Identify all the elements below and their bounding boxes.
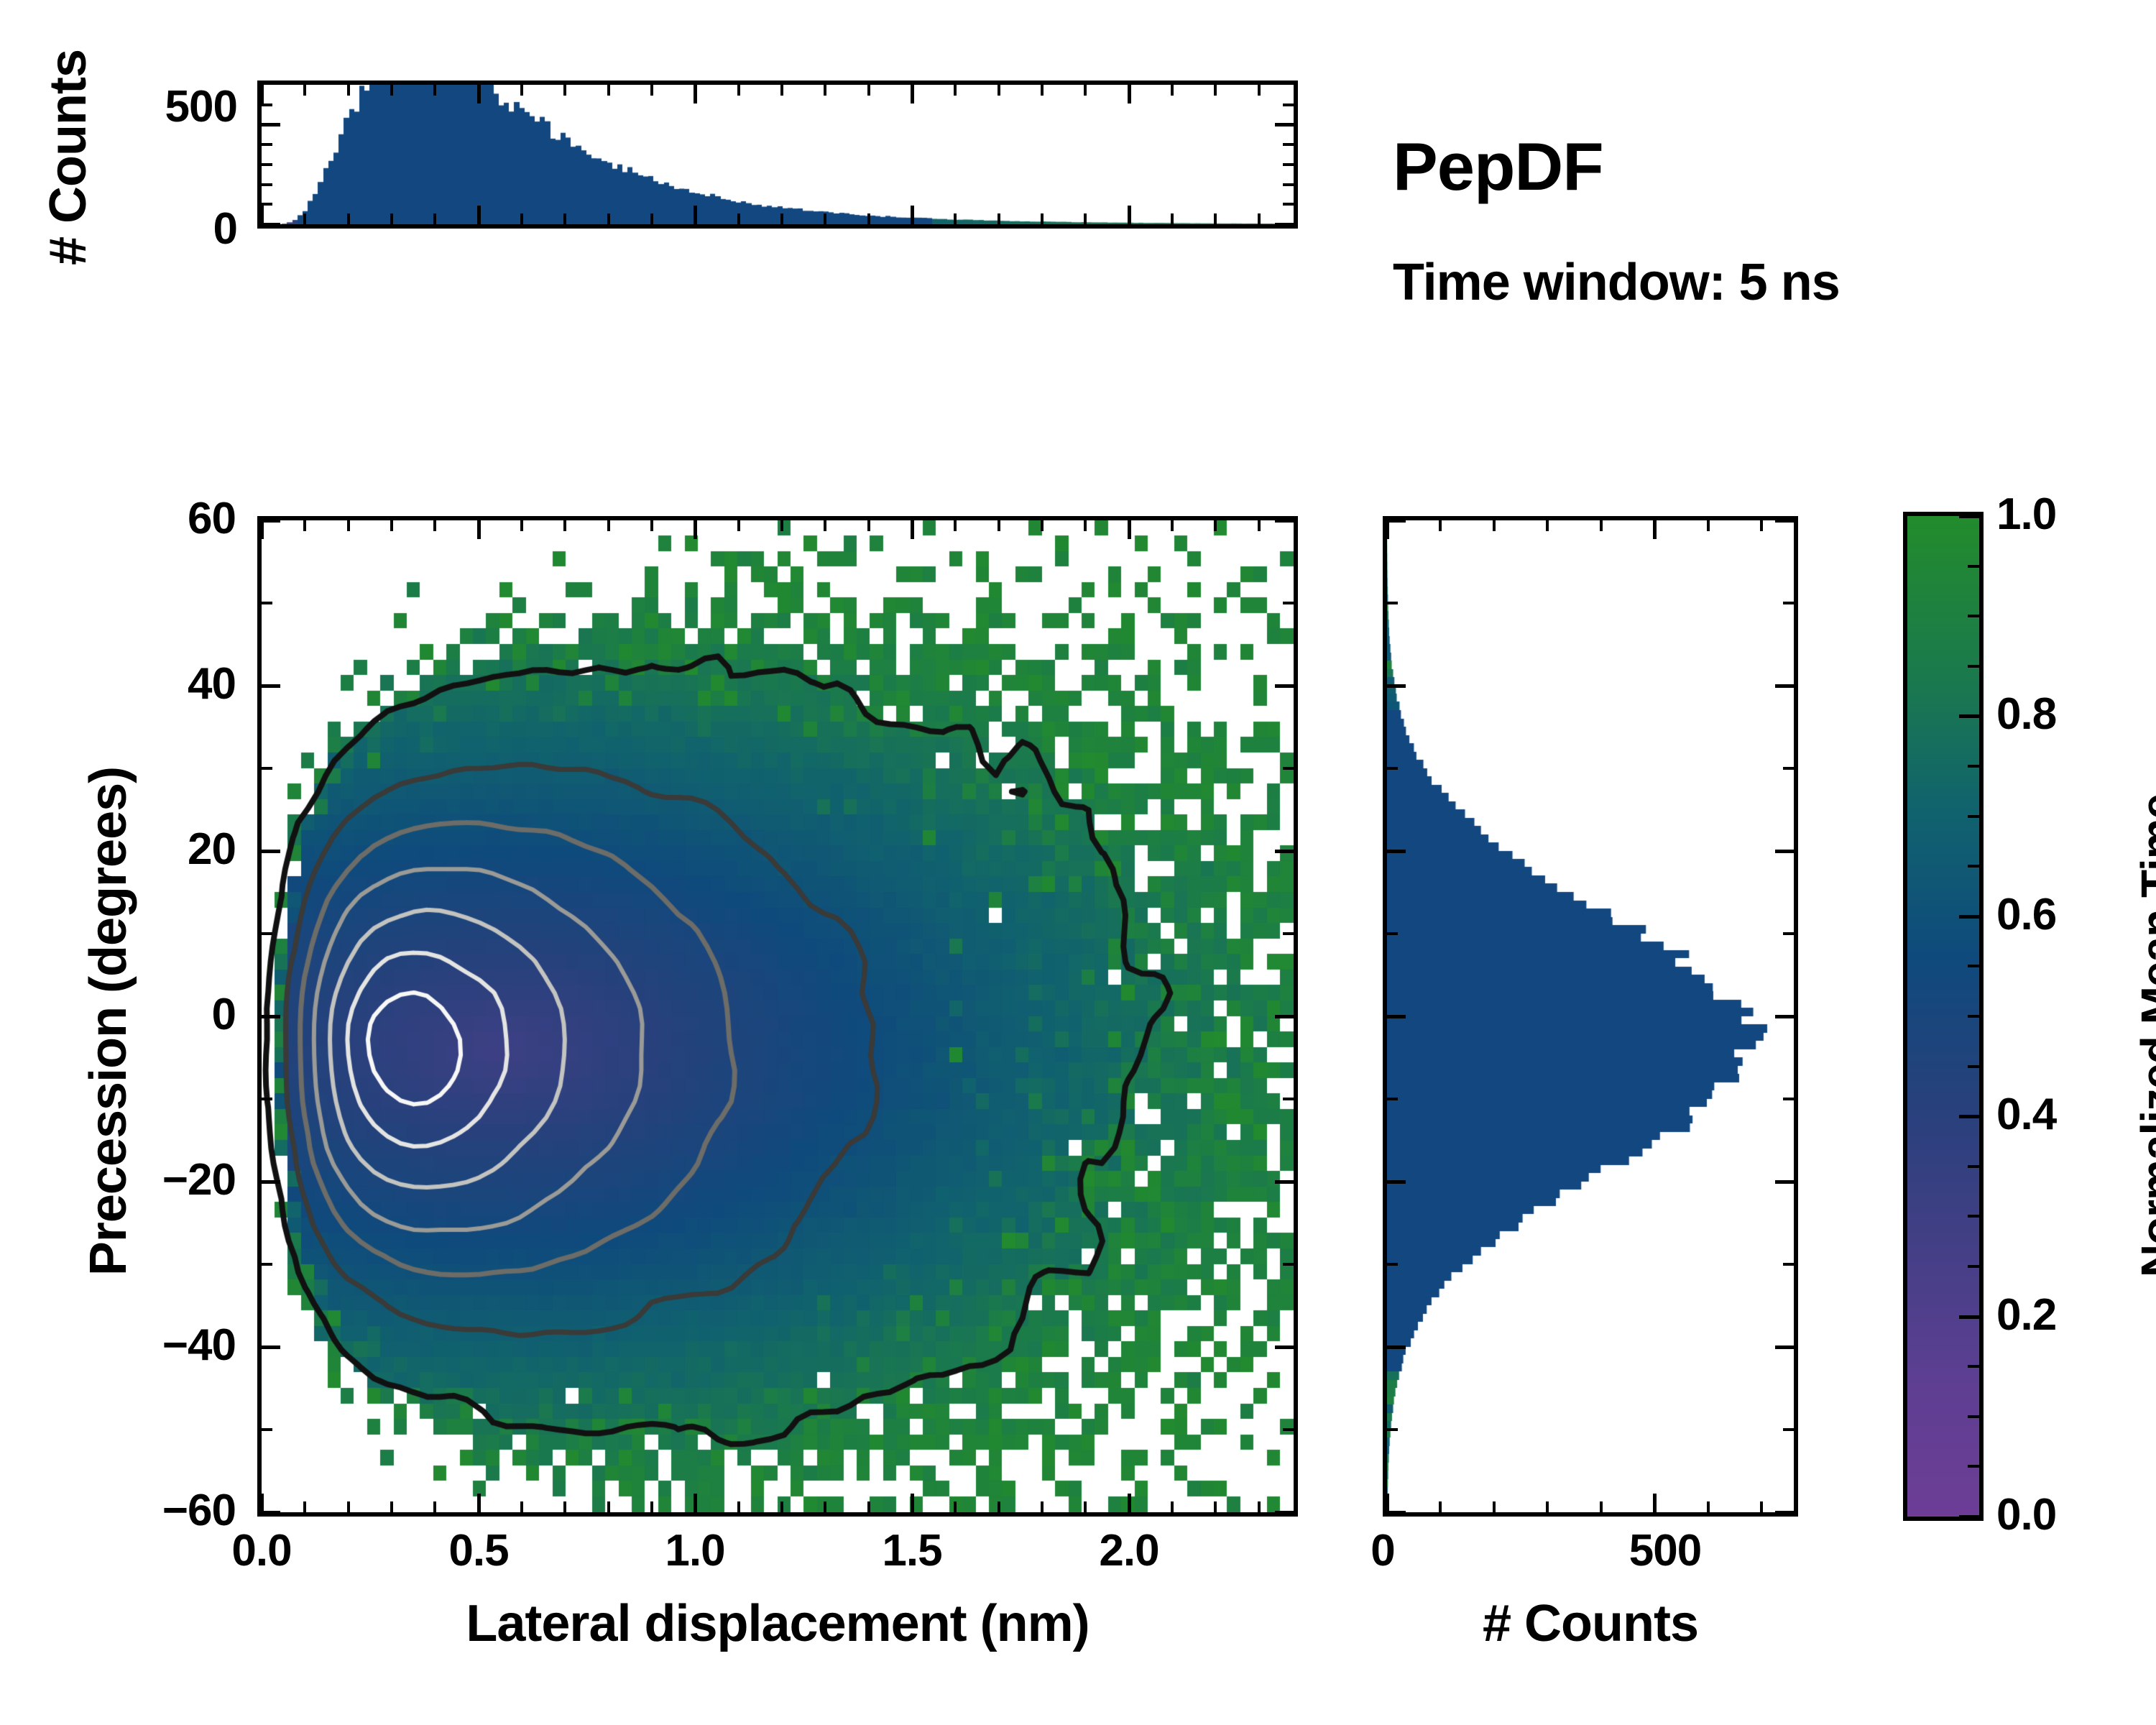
axis-tick (390, 520, 393, 531)
axis-tick (1783, 767, 1794, 770)
axis-tick (1128, 1494, 1131, 1512)
axis-tick (998, 85, 1000, 96)
axis-tick (824, 213, 826, 224)
main-ytick-label: 20 (49, 824, 236, 875)
axis-tick (1283, 103, 1294, 106)
axis-tick (520, 213, 523, 224)
axis-tick (1968, 865, 1979, 868)
axis-tick (1387, 1015, 1406, 1018)
axis-tick (1041, 85, 1044, 96)
axis-tick (563, 85, 566, 96)
main-xtick-label: 2.0 (1050, 1525, 1208, 1576)
axis-tick (303, 85, 306, 96)
axis-tick (1775, 1345, 1794, 1349)
axis-tick (824, 520, 826, 531)
axis-tick (1968, 815, 1979, 818)
axis-tick (1283, 932, 1294, 935)
figure-root: 0 500 # Counts 0.00.51.01.52.0 −60−40−20… (0, 0, 2156, 1725)
axis-tick (262, 1511, 280, 1514)
axis-tick (1214, 85, 1217, 96)
axis-tick (1775, 1015, 1794, 1018)
axis-tick (347, 520, 350, 531)
axis-tick (1968, 615, 1979, 617)
axis-tick (737, 213, 740, 224)
axis-tick (1775, 850, 1794, 853)
axis-tick (1968, 1365, 1979, 1368)
axis-tick (911, 1494, 914, 1512)
axis-tick (1387, 519, 1406, 523)
main-ytick-label: −60 (49, 1485, 236, 1536)
main-panel-xlabel: Lateral displacement (nm) (257, 1594, 1298, 1653)
axis-tick (262, 1345, 280, 1349)
axis-tick (1171, 213, 1174, 224)
main-joint-plot-panel (257, 516, 1298, 1517)
axis-tick (1707, 520, 1710, 531)
axis-tick (1387, 767, 1398, 770)
main-xtick-label: 1.0 (616, 1525, 774, 1576)
axis-tick (1258, 213, 1261, 224)
axis-tick (1283, 1263, 1294, 1266)
axis-tick (998, 1501, 1000, 1512)
axis-tick (262, 203, 272, 206)
axis-tick (650, 1501, 653, 1512)
axis-tick (260, 520, 264, 539)
axis-tick (1283, 143, 1294, 146)
axis-tick (650, 520, 653, 531)
main-ytick-label: −40 (49, 1320, 236, 1371)
axis-tick (911, 85, 914, 103)
axis-tick (1084, 1501, 1087, 1512)
axis-tick (1283, 1098, 1294, 1100)
top-ytick-label-500: 500 (115, 81, 237, 132)
axis-tick (1171, 85, 1174, 96)
axis-tick (1128, 520, 1131, 539)
axis-tick (1386, 520, 1389, 539)
axis-tick (262, 684, 280, 688)
axis-tick (1275, 850, 1294, 853)
axis-tick (1783, 932, 1794, 935)
main-ytick-label: 60 (49, 493, 236, 544)
axis-tick (303, 1501, 306, 1512)
axis-tick (1760, 520, 1763, 531)
axis-tick (1775, 684, 1794, 688)
axis-tick (1387, 684, 1406, 688)
axis-tick (780, 520, 783, 531)
axis-tick (1275, 1511, 1294, 1514)
axis-tick (1283, 1428, 1294, 1431)
axis-tick (1283, 767, 1294, 770)
axis-tick (1387, 850, 1406, 853)
axis-tick (1171, 520, 1174, 531)
axis-tick (1387, 932, 1398, 935)
axis-tick (737, 520, 740, 531)
axis-tick (347, 213, 350, 224)
axis-tick (1084, 85, 1087, 96)
axis-tick (1387, 602, 1398, 604)
axis-tick (262, 103, 272, 106)
axis-tick (477, 206, 481, 224)
axis-tick (780, 213, 783, 224)
axis-tick (1387, 1511, 1406, 1514)
axis-tick (694, 85, 697, 103)
axis-tick (998, 213, 1000, 224)
colorbar-tick-label: 0.8 (1996, 689, 2140, 740)
axis-tick (780, 1501, 783, 1512)
axis-tick (563, 1501, 566, 1512)
axis-tick (1968, 1415, 1979, 1418)
axis-tick (1386, 1494, 1389, 1512)
axis-tick (262, 163, 272, 166)
axis-tick (1387, 1428, 1398, 1431)
right-marginal-histogram-panel (1383, 516, 1798, 1517)
axis-tick (477, 85, 481, 103)
axis-tick (1968, 1215, 1979, 1218)
colorbar-tick-label: 0.2 (1996, 1289, 2140, 1340)
top-marginal-histogram-panel (257, 80, 1298, 229)
main-ytick-label: 40 (49, 658, 236, 709)
axis-tick (1653, 1494, 1657, 1512)
axis-tick (1968, 1465, 1979, 1468)
axis-tick (1041, 213, 1044, 224)
axis-tick (607, 520, 610, 531)
axis-tick (262, 850, 280, 853)
axis-tick (607, 213, 610, 224)
axis-tick (262, 1180, 280, 1184)
axis-tick (1275, 519, 1294, 523)
axis-tick (1041, 1501, 1044, 1512)
axis-tick (1439, 1501, 1442, 1512)
axis-tick (477, 520, 481, 539)
axis-tick (1707, 1501, 1710, 1512)
axis-tick (954, 1501, 957, 1512)
axis-tick (998, 520, 1000, 531)
top-panel-ylabel: # Counts (39, 35, 98, 280)
axis-tick (1968, 1015, 1979, 1018)
axis-tick (347, 85, 350, 96)
axis-tick (1968, 1165, 1979, 1168)
axis-tick (1783, 1098, 1794, 1100)
axis-tick (1493, 520, 1496, 531)
axis-tick (303, 520, 306, 531)
axis-tick (954, 520, 957, 531)
axis-tick (824, 1501, 826, 1512)
axis-tick (1387, 1345, 1406, 1349)
axis-tick (563, 520, 566, 531)
axis-tick (1275, 684, 1294, 688)
axis-tick (262, 143, 272, 146)
axis-tick (1760, 1501, 1763, 1512)
right-xtick-label-0: 0 (1340, 1525, 1426, 1576)
main-ytick-label: −20 (49, 1154, 236, 1205)
colorbar-axis-label: Normalized Mean Time (2131, 531, 2156, 1540)
axis-tick (1128, 85, 1131, 103)
axis-tick (262, 1263, 272, 1266)
axis-tick (1968, 965, 1979, 967)
axis-tick (1275, 1015, 1294, 1018)
axis-tick (520, 85, 523, 96)
axis-tick (390, 213, 393, 224)
axis-tick (520, 1501, 523, 1512)
axis-tick (262, 223, 280, 226)
axis-tick (1600, 1501, 1603, 1512)
axis-tick (1275, 223, 1294, 226)
axis-tick (1171, 1501, 1174, 1512)
axis-tick (607, 1501, 610, 1512)
axis-tick (780, 85, 783, 96)
axis-tick (262, 1428, 272, 1431)
colorbar-tick-label: 0.6 (1996, 889, 2140, 940)
axis-tick (1783, 1428, 1794, 1431)
axis-tick (1546, 1501, 1549, 1512)
axis-tick (260, 206, 264, 224)
axis-tick (694, 206, 697, 224)
axis-tick (1968, 1265, 1979, 1268)
axis-tick (650, 213, 653, 224)
axis-tick (262, 1015, 280, 1018)
axis-tick (262, 932, 272, 935)
axis-tick (433, 213, 436, 224)
axis-tick (260, 85, 264, 103)
axis-tick (1258, 1501, 1261, 1512)
axis-tick (1783, 1263, 1794, 1266)
axis-tick (1968, 565, 1979, 568)
axis-tick (1214, 213, 1217, 224)
axis-tick (911, 520, 914, 539)
axis-tick (694, 520, 697, 539)
top-ytick-label-0: 0 (144, 203, 237, 254)
axis-tick (1775, 1511, 1794, 1514)
figure-title: PepDF (1393, 128, 1603, 206)
axis-tick (1653, 520, 1657, 539)
axis-tick (1959, 515, 1979, 518)
axis-tick (1439, 520, 1442, 531)
axis-tick (1959, 714, 1979, 718)
axis-tick (520, 520, 523, 531)
axis-tick (303, 213, 306, 224)
axis-tick (1387, 1263, 1398, 1266)
axis-tick (1387, 1180, 1406, 1184)
axis-tick (867, 1501, 870, 1512)
axis-tick (1283, 203, 1294, 206)
right-xtick-label-500: 500 (1593, 1525, 1737, 1576)
axis-tick (737, 85, 740, 96)
axis-tick (1128, 206, 1131, 224)
main-xtick-label: 0.5 (400, 1525, 558, 1576)
axis-tick (1783, 602, 1794, 604)
colorbar-tick-label: 0.4 (1996, 1089, 2140, 1140)
axis-tick (867, 520, 870, 531)
colorbar-tick-label: 0.0 (1996, 1489, 2140, 1540)
axis-tick (1283, 602, 1294, 604)
axis-tick (262, 123, 280, 126)
axis-tick (1959, 1515, 1979, 1519)
axis-tick (433, 520, 436, 531)
axis-tick (954, 213, 957, 224)
axis-tick (1546, 520, 1549, 531)
axis-tick (694, 1494, 697, 1512)
axis-tick (1968, 765, 1979, 768)
axis-tick (260, 1494, 264, 1512)
axis-tick (390, 1501, 393, 1512)
axis-tick (1275, 1180, 1294, 1184)
axis-tick (607, 85, 610, 96)
axis-tick (737, 1501, 740, 1512)
axis-tick (867, 85, 870, 96)
axis-tick (1283, 163, 1294, 166)
main-xtick-label: 1.5 (833, 1525, 991, 1576)
axis-tick (1959, 915, 1979, 919)
axis-tick (1214, 520, 1217, 531)
axis-tick (262, 1098, 272, 1100)
axis-tick (1775, 1180, 1794, 1184)
axis-tick (1493, 1501, 1496, 1512)
axis-tick (1275, 1345, 1294, 1349)
axis-tick (1959, 1115, 1979, 1118)
axis-tick (1258, 520, 1261, 531)
axis-tick (477, 1494, 481, 1512)
top-histogram-canvas (262, 85, 1294, 224)
right-histogram-canvas (1387, 520, 1794, 1512)
axis-tick (262, 602, 272, 604)
axis-tick (1959, 1315, 1979, 1319)
axis-tick (433, 85, 436, 96)
axis-tick (954, 85, 957, 96)
colorbar-tick-label: 1.0 (1996, 489, 2140, 540)
axis-tick (1258, 85, 1261, 96)
axis-tick (1084, 213, 1087, 224)
axis-tick (1387, 1098, 1398, 1100)
axis-tick (867, 213, 870, 224)
axis-tick (433, 1501, 436, 1512)
main-ytick-label: 0 (49, 989, 236, 1040)
axis-tick (1968, 1065, 1979, 1068)
figure-subtitle: Time window: 5 ns (1393, 253, 1840, 312)
axis-tick (911, 206, 914, 224)
axis-tick (1275, 123, 1294, 126)
right-panel-xlabel: # Counts (1383, 1594, 1798, 1653)
main-panel-ylabel: Precession (degrees) (79, 521, 138, 1522)
axis-tick (1041, 520, 1044, 531)
axis-tick (1283, 183, 1294, 186)
axis-tick (824, 85, 826, 96)
axis-tick (1968, 665, 1979, 668)
axis-tick (1600, 520, 1603, 531)
axis-tick (262, 767, 272, 770)
axis-tick (347, 1501, 350, 1512)
axis-tick (563, 213, 566, 224)
axis-tick (1214, 1501, 1217, 1512)
axis-tick (390, 85, 393, 96)
axis-tick (262, 183, 272, 186)
axis-tick (1775, 519, 1794, 523)
axis-tick (650, 85, 653, 96)
axis-tick (1084, 520, 1087, 531)
axis-tick (262, 519, 280, 523)
joint-heatmap-canvas (262, 520, 1294, 1512)
